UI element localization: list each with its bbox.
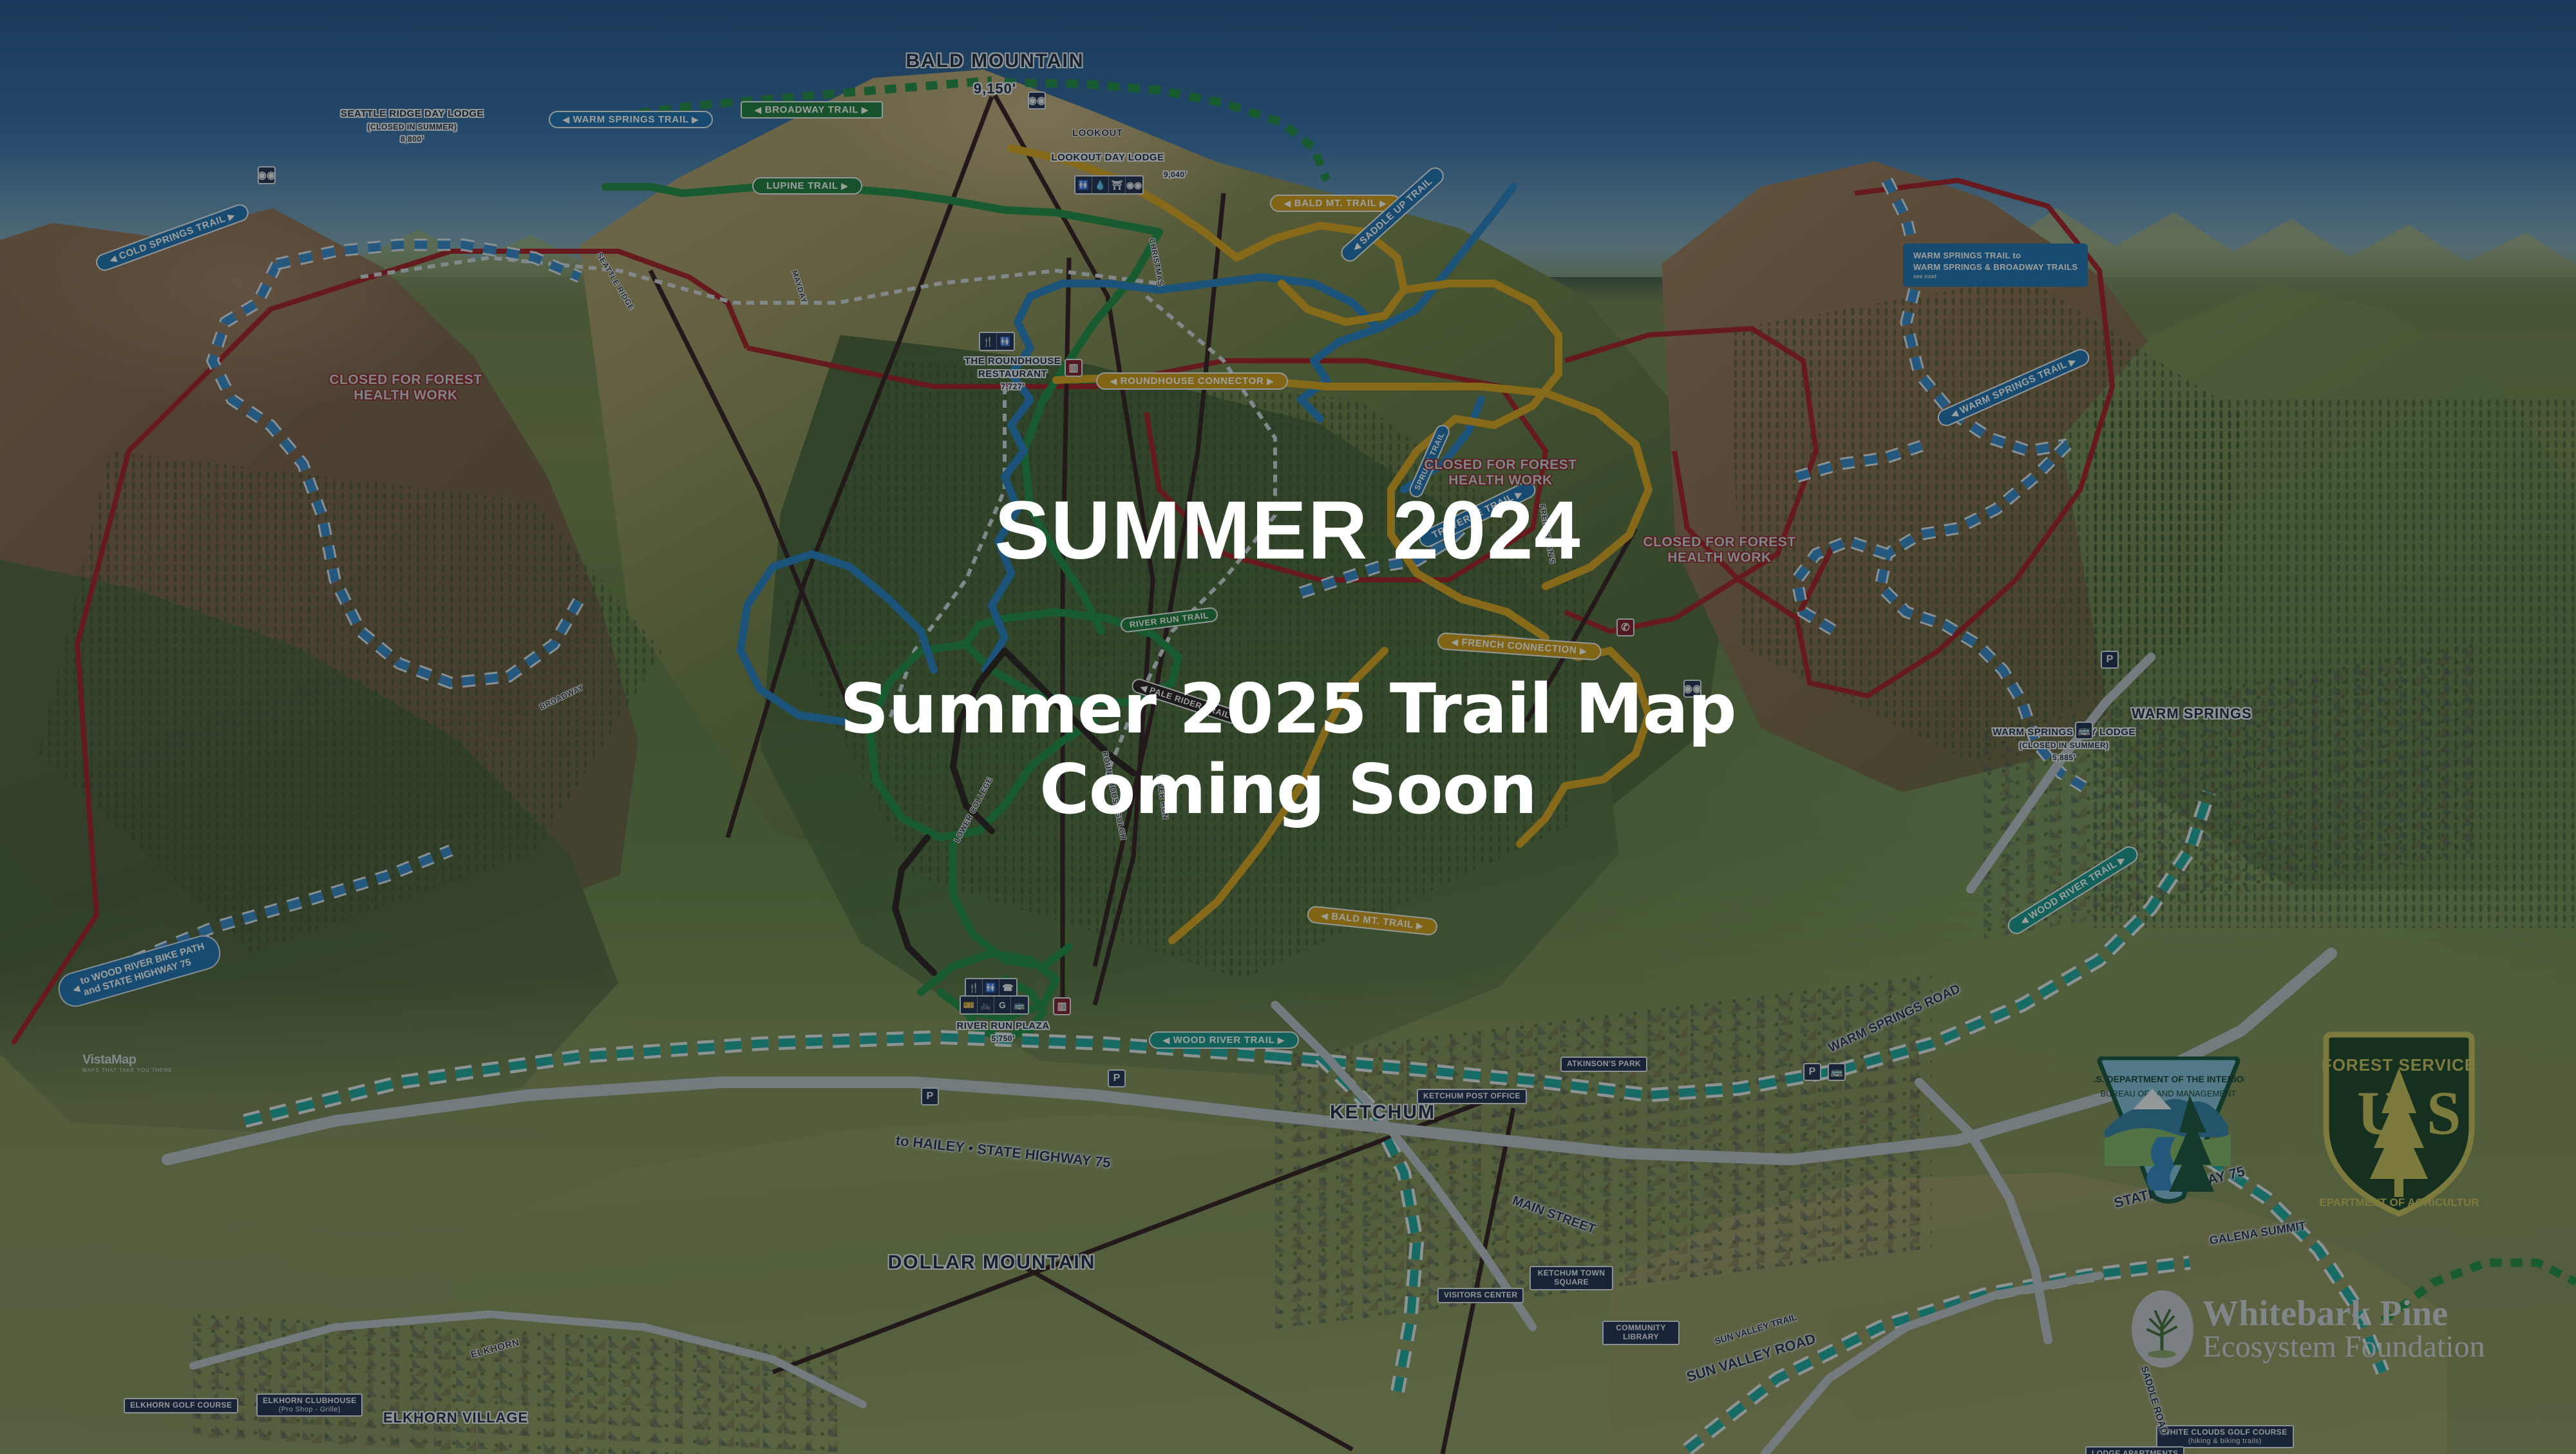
lodge-label-roundhouse: THE ROUNDHOUSE — [950, 356, 1075, 367]
lodge-note-warm-springs: (CLOSED IN SUMMER) — [1977, 741, 2151, 750]
town-label-ketchum: KETCHUM — [1330, 1102, 1435, 1124]
svg-text:DEPARTMENT OF AGRICULTURE: DEPARTMENT OF AGRICULTURE — [2318, 1196, 2479, 1209]
restroom-icon: 🚻 — [997, 333, 1014, 350]
arrow-right-icon: ▶ — [1379, 198, 1387, 208]
arrow-left-icon: ◀ — [1110, 376, 1117, 386]
restroom-icon: 🚻 — [983, 979, 999, 996]
poi-visitors-center[interactable]: VISITORS CENTER — [1437, 1288, 1524, 1303]
restroom-icon: 🚻 — [1075, 177, 1092, 193]
inset-sign-line3: see inset — [1913, 273, 2078, 280]
viewpoint-icon-french: ◉◉ — [1683, 680, 1701, 698]
whitebark-pine-logo: Whitebark Pine Ecosystem Foundation — [2132, 1282, 2544, 1375]
closure-notice-center: CLOSED FOR FOREST HEALTH WORK — [1372, 457, 1629, 488]
vistamap-name: VistaMap — [82, 1053, 136, 1067]
ticket-icon: 🎫 — [961, 997, 978, 1013]
arrow-right-icon: ▶ — [841, 181, 848, 191]
trail-label-roundhouse-connector: ◀ ROUNDHOUSE CONNECTOR ▶ — [1096, 372, 1288, 390]
arrow-left-icon: ◀ — [1451, 637, 1459, 647]
arrow-right-icon: ▶ — [2116, 854, 2127, 865]
lodge-elevation-lookout: 9,040' — [1164, 170, 1187, 179]
arrow-left-icon: ◀ — [1139, 682, 1149, 694]
viewpoint-icon: ◉◉ — [1126, 177, 1142, 193]
vistamap-tagline: MAPS THAT TAKE YOU THERE — [82, 1067, 173, 1073]
amenity-sign-lookout: 🚻 💧 ⛩ ◉◉ — [1074, 175, 1144, 195]
poi-atkinsons-park[interactable]: ATKINSON'S PARK — [1560, 1057, 1647, 1072]
bike-icon: 🚲 — [978, 997, 994, 1013]
svg-text:U.S. DEPARTMENT OF THE INTERIO: U.S. DEPARTMENT OF THE INTERIOR — [2093, 1074, 2244, 1084]
peak-label-bald-mountain: BALD MOUNTAIN — [898, 50, 1092, 72]
bus-icon: 🚌 — [1011, 997, 1028, 1013]
arrow-right-icon: ▶ — [1416, 921, 1424, 931]
arrow-left-icon: ◀ — [755, 105, 762, 115]
parking-icon-river-run-east: P — [1108, 1069, 1126, 1087]
inset-sign-line2: WARM SPRINGS & BROADWAY TRAILS — [1913, 262, 2078, 273]
lodge-label-lookout: LOOKOUT DAY LODGE — [1034, 152, 1182, 163]
closure-notice-left: CLOSED FOR FOREST HEALTH WORK — [277, 372, 535, 403]
parking-icon-ketchum: P — [1803, 1063, 1821, 1081]
trail-label-wood-river-bottom: ◀ WOOD RIVER TRAIL ▶ — [1149, 1031, 1299, 1049]
restaurant-icon: 🍴 — [980, 333, 997, 350]
amenity-sign-river-run-row2: 🎫 🚲 G 🚌 — [960, 995, 1029, 1015]
viewpoint-icon-summit: ◉◉ — [1028, 91, 1046, 110]
lodge-label-river-run-plaza: RIVER RUN PLAZA — [937, 1020, 1069, 1031]
arrow-left-icon: ◀ — [1163, 1035, 1170, 1045]
svg-text:BUREAU OF LAND MANAGEMENT: BUREAU OF LAND MANAGEMENT — [2101, 1089, 2237, 1098]
arrow-left-icon: ◀ — [1284, 198, 1291, 208]
lodge-label-warm-springs: WARM SPRINGS DAY LODGE — [1977, 727, 2151, 738]
run-label-lookout: LOOKOUT — [1072, 128, 1123, 139]
arrow-left-icon: ◀ — [108, 253, 118, 265]
closure-notice-right: CLOSED FOR FOREST HEALTH WORK — [1591, 535, 1848, 565]
trail-network: .rd { stroke:#3a2028; stroke-width:7; fi… — [0, 0, 2576, 1454]
arrow-right-icon: ▶ — [2067, 356, 2078, 367]
whitebark-pine-tree-icon — [2132, 1290, 2193, 1368]
svg-text:S: S — [2427, 1078, 2461, 1147]
parking-icon-river-run-west: P — [921, 1087, 939, 1105]
arrow-right-icon: ▶ — [1278, 1035, 1285, 1045]
vistamap-credit: VistaMap MAPS THAT TAKE YOU THERE — [82, 1053, 173, 1073]
warm-springs-inset-sign: WARM SPRINGS TRAIL to WARM SPRINGS & BRO… — [1903, 244, 2088, 287]
trail-label-bald-mt-trail-top: ◀ BALD MT. TRAIL ▶ — [1270, 195, 1401, 212]
poi-community-library[interactable]: COMMUNITY LIBRARY — [1602, 1321, 1680, 1345]
poi-elkhorn-clubhouse[interactable]: ELKHORN CLUBHOUSE (Pro Shop - Grille) — [256, 1393, 363, 1417]
arrow-left-icon: ◀ — [1350, 241, 1362, 253]
parking-icon-warm-springs: P — [2101, 651, 2119, 669]
poi-elkhorn-golf-course[interactable]: ELKHORN GOLF COURSE — [124, 1398, 238, 1413]
wpef-line1: Whitebark Pine — [2202, 1296, 2485, 1332]
arrow-right-icon: ▶ — [692, 115, 699, 124]
emergency-phone-icon: ✆ — [1616, 618, 1634, 636]
lodge-elevation-roundhouse: 7,727' — [950, 382, 1075, 391]
whitebark-pine-wordmark: Whitebark Pine Ecosystem Foundation — [2202, 1296, 2485, 1363]
gondola-letter-icon: G — [994, 997, 1011, 1013]
amenity-sign-roundhouse: 🍴 🚻 — [979, 332, 1015, 351]
water-icon: 💧 — [1092, 177, 1109, 193]
trail-label-lupine: LUPINE TRAIL ▶ — [752, 177, 862, 195]
arrow-right-icon: ▶ — [862, 105, 869, 115]
poi-white-clouds-golf-course[interactable]: WHITE CLOUDS GOLF COURSE (hiking & bikin… — [2156, 1425, 2294, 1448]
lodge-label-roundhouse-line2: RESTAURANT — [950, 368, 1075, 379]
arrow-left-icon: ◀ — [563, 115, 570, 124]
peak-label-dollar-mountain: DOLLAR MOUNTAIN — [857, 1252, 1127, 1274]
bus-icon-warm-springs: 🚌 — [2075, 722, 2093, 740]
usfs-logo: FOREST SERVICE U S DEPARTMENT OF AGRICUL… — [2318, 1031, 2479, 1218]
town-label-warm-springs: WARM SPRINGS — [2132, 705, 2252, 722]
lodge-elevation-river-run-plaza: 5,750' — [937, 1034, 1069, 1043]
poi-elkhorn-clubhouse-sub: (Pro Shop - Grille) — [263, 1406, 356, 1414]
arrow-left-icon: ◀ — [2019, 915, 2030, 926]
bus-icon-ketchum: 🚌 — [1828, 1063, 1846, 1081]
trail-map-canvas: .rd { stroke:#3a2028; stroke-width:7; fi… — [0, 0, 2576, 1454]
arrow-right-icon: ▶ — [1580, 646, 1587, 656]
lodge-label-seattle-ridge: SEATTLE RIDGE DAY LODGE — [338, 108, 486, 119]
arrow-right-icon: ▶ — [227, 210, 236, 222]
lodge-elevation-seattle-ridge: 8,800' — [338, 135, 486, 144]
restaurant-icon: 🍴 — [966, 979, 983, 996]
poi-white-clouds-name: WHITE CLOUDS GOLF COURSE — [2163, 1428, 2287, 1437]
phone-icon: ☎ — [999, 979, 1016, 996]
arrow-left-icon: ◀ — [1321, 910, 1329, 921]
arrow-left-icon: ◀ — [1949, 408, 1960, 419]
gondola-icon-river-run: ▥ — [1053, 997, 1071, 1015]
poi-elkhorn-clubhouse-name: ELKHORN CLUBHOUSE — [263, 1396, 356, 1405]
poi-white-clouds-sub: (hiking & biking trails) — [2163, 1437, 2287, 1446]
poi-lodge-apartments[interactable]: LODGE APARTMENTS — [2085, 1446, 2184, 1454]
viewpoint-icon-seattle-ridge: ◉◉ — [258, 166, 276, 184]
arrow-left-icon: ◀ — [71, 983, 81, 995]
poi-ketchum-town-square[interactable]: KETCHUM TOWN SQUARE — [1529, 1266, 1613, 1290]
arrow-right-icon: ▶ — [1267, 376, 1274, 386]
inset-sign-line1: WARM SPRINGS TRAIL to — [1913, 250, 2078, 262]
trail-label-warm-springs-top: ◀ WARM SPRINGS TRAIL ▶ — [549, 111, 713, 128]
lodge-note-seattle-ridge: (CLOSED IN SUMMER) — [338, 122, 486, 131]
town-label-elkhorn-village: ELKHORN VILLAGE — [383, 1410, 528, 1426]
trail-label-broadway: ◀ BROADWAY TRAIL ▶ — [741, 101, 883, 119]
lodge-elevation-warm-springs: 5,885' — [1977, 753, 2151, 762]
poi-ketchum-post-office[interactable]: KETCHUM POST OFFICE — [1417, 1089, 1527, 1104]
blm-logo: U.S. DEPARTMENT OF THE INTERIOR BUREAU O… — [2093, 1057, 2244, 1205]
picnic-icon: ⛩ — [1109, 177, 1126, 193]
amenity-sign-river-run-row1: 🍴 🚻 ☎ — [965, 978, 1018, 997]
wpef-line2: Ecosystem Foundation — [2202, 1332, 2485, 1363]
gondola-icon-roundhouse: ▥ — [1065, 359, 1083, 377]
arrow-right-icon: ▶ — [1513, 488, 1524, 500]
